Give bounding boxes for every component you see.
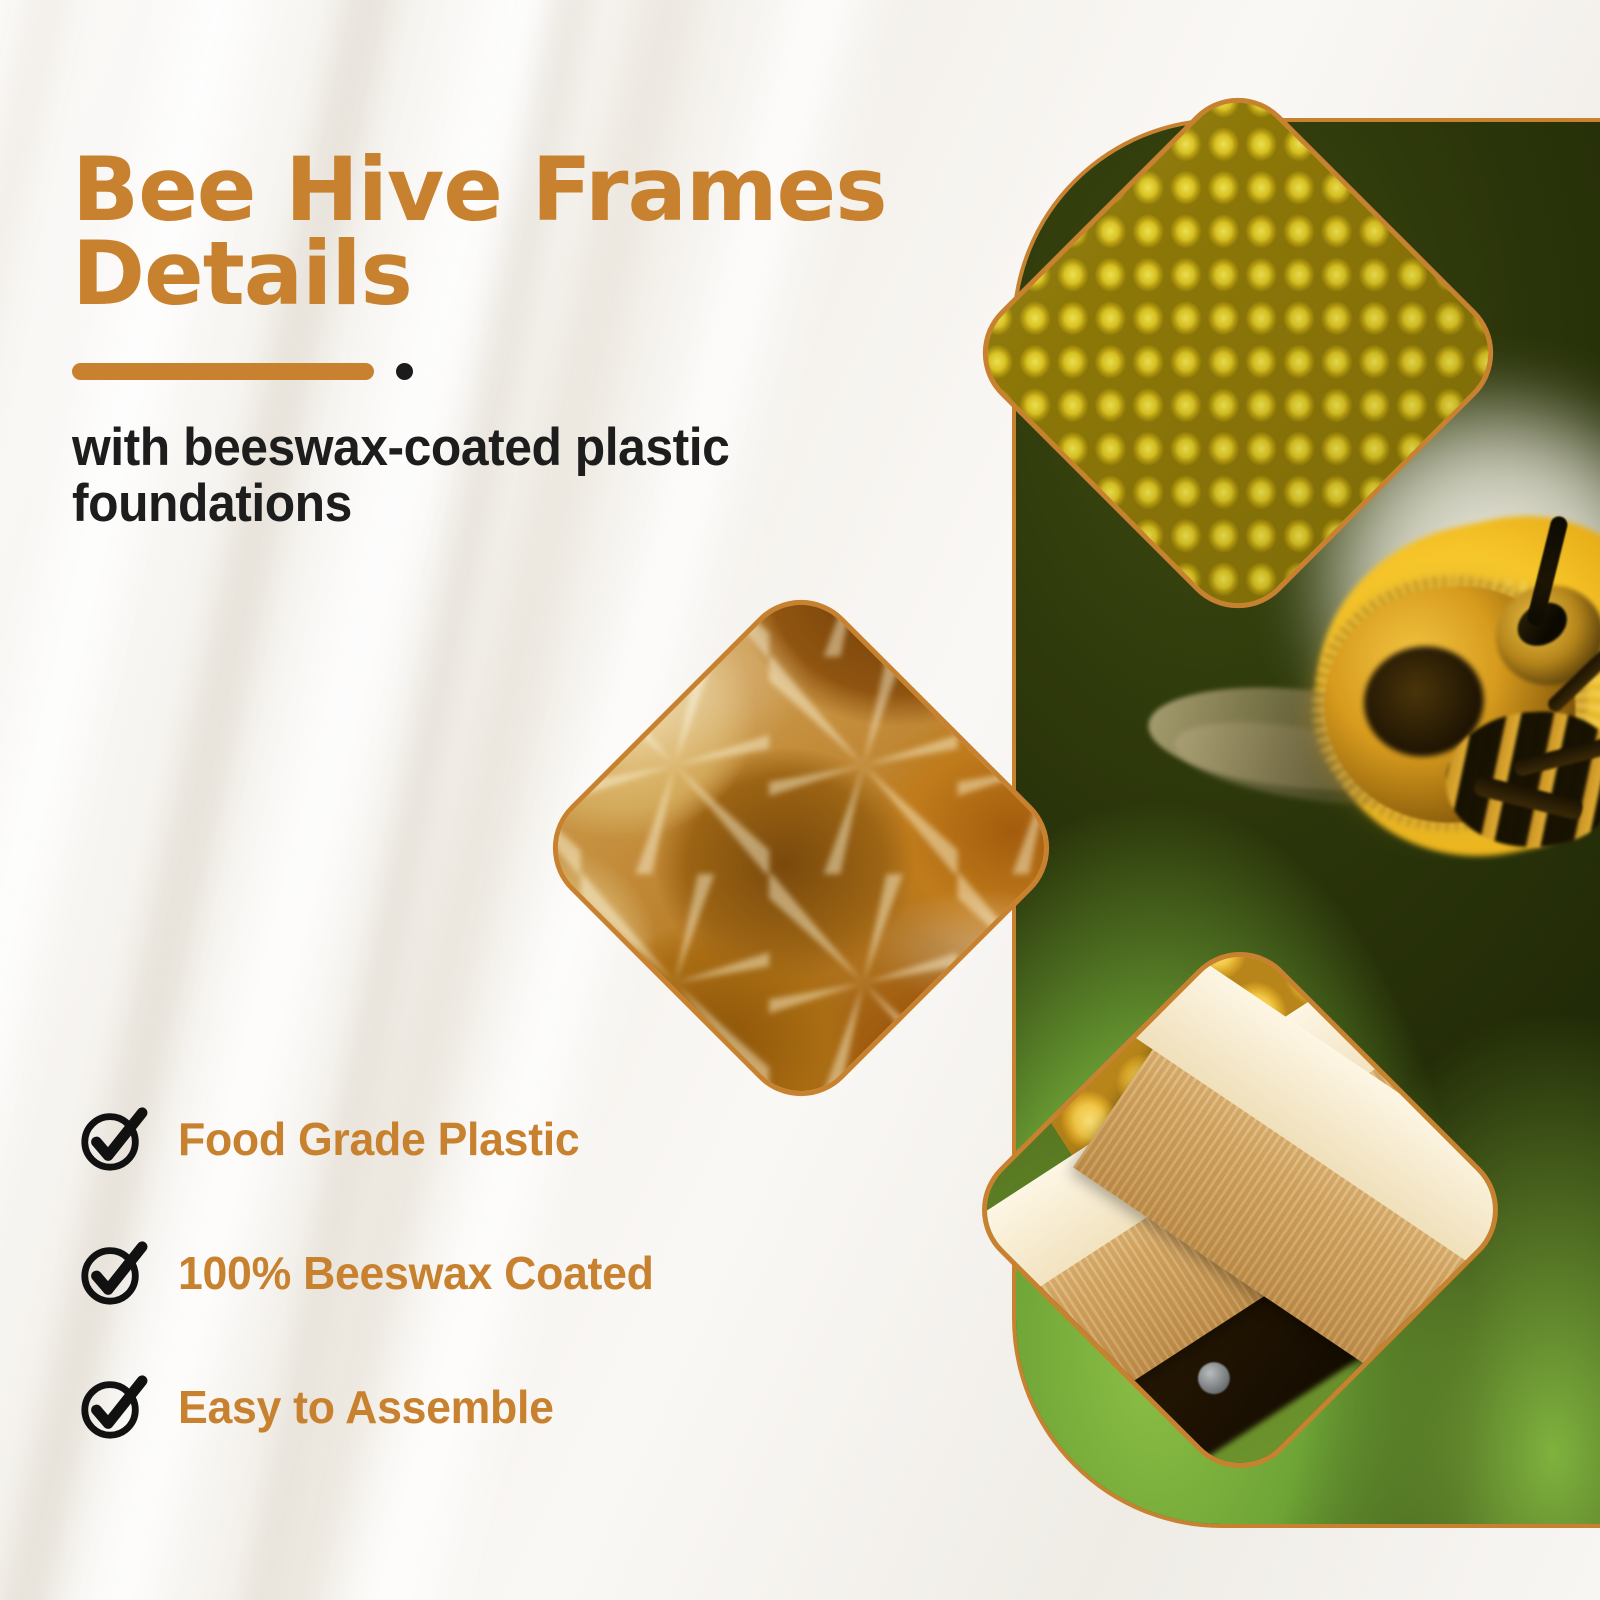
page-subtitle: with beeswax-coated plastic foundations <box>72 420 862 532</box>
feature-item: Easy to Assemble <box>78 1373 668 1441</box>
page-title: Bee Hive Frames Details <box>72 148 952 315</box>
feature-label: 100% Beeswax Coated <box>178 1246 654 1300</box>
circled-check-icon <box>78 1239 146 1307</box>
feature-list: Food Grade Plastic 100% Beeswax Coated E… <box>78 1105 668 1441</box>
circled-check-icon <box>78 1373 146 1441</box>
infographic-canvas: Bee Hive Frames Details with beeswax-coa… <box>0 0 1600 1600</box>
title-divider <box>72 363 413 380</box>
feature-label: Food Grade Plastic <box>178 1112 579 1166</box>
frame-nail <box>1198 1363 1230 1395</box>
title-line-2: Details <box>72 222 412 325</box>
divider-dot <box>396 363 413 380</box>
divider-bar <box>72 363 374 380</box>
feature-item: Food Grade Plastic <box>78 1105 668 1173</box>
feature-item: 100% Beeswax Coated <box>78 1239 668 1307</box>
circled-check-icon <box>78 1105 146 1173</box>
feature-label: Easy to Assemble <box>178 1380 554 1434</box>
